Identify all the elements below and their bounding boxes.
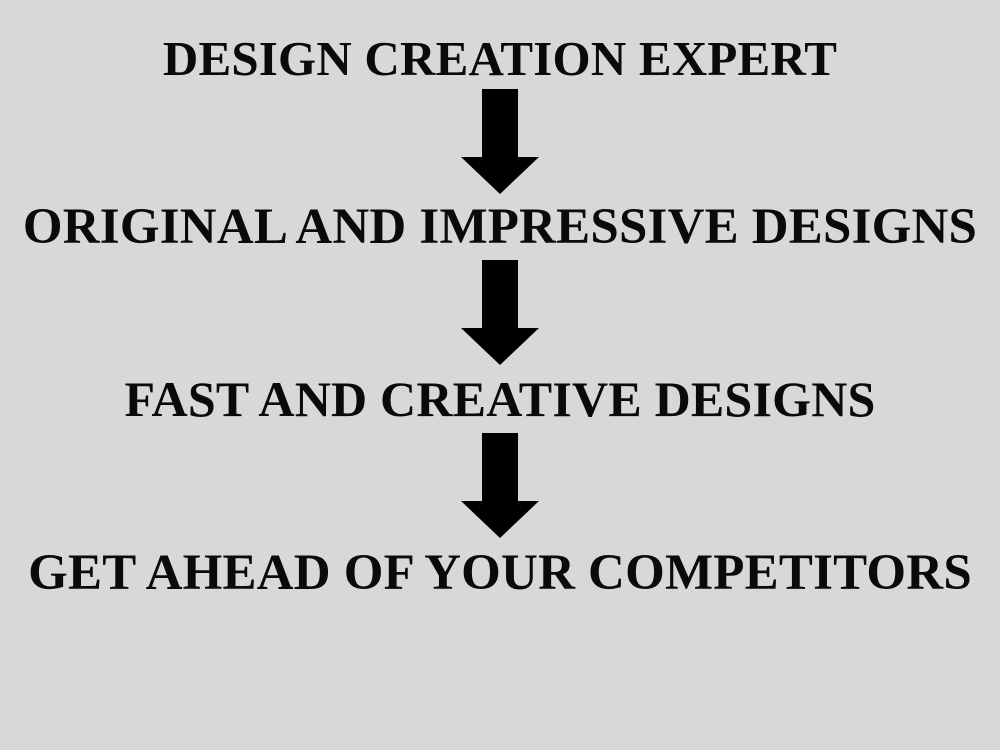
- flow-step-4: GET AHEAD OF YOUR COMPETITORS: [0, 548, 1000, 599]
- flow-step-3: FAST AND CREATIVE DESIGNS: [0, 374, 1000, 424]
- flow-step-stack: DESIGN CREATION EXPERT ORIGINAL AND IMPR…: [0, 0, 1000, 749]
- flow-diagram-canvas: DESIGN CREATION EXPERT ORIGINAL AND IMPR…: [0, 0, 1000, 750]
- flow-step-2: ORIGINAL AND IMPRESSIVE DESIGNS: [0, 202, 1000, 253]
- arrow-down-icon: [461, 89, 539, 194]
- bottom-spacer: [0, 599, 1000, 749]
- arrow-down-icon: [461, 260, 539, 365]
- arrow-down-icon: [461, 433, 539, 538]
- flow-step-1: DESIGN CREATION EXPERT: [0, 34, 1000, 83]
